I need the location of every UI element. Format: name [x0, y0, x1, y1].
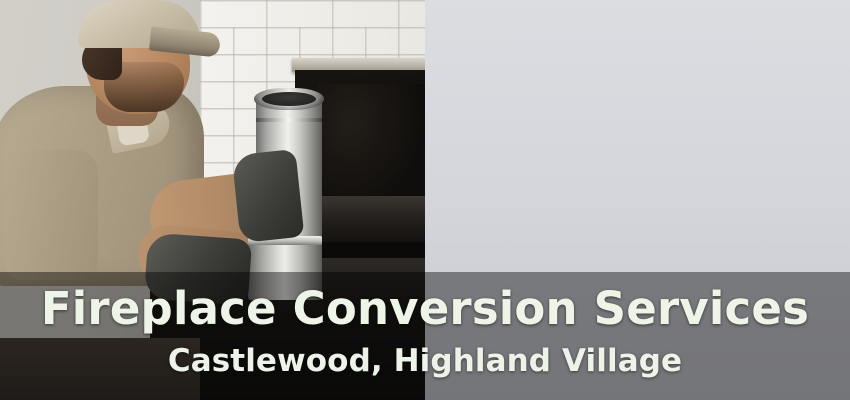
technician-left-sleeve: [6, 150, 98, 280]
page-title: Fireplace Conversion Services: [41, 286, 809, 333]
service-area-banner: Fireplace Conversion Services Castlewood…: [0, 0, 850, 400]
technician-left-glove-upper: [232, 149, 305, 243]
stove-pipe-bore: [262, 92, 316, 106]
caption-block: Fireplace Conversion Services Castlewood…: [0, 272, 850, 400]
service-location-subtitle: Castlewood, Highland Village: [168, 345, 682, 378]
firebox-interior-shadow: [318, 84, 425, 214]
stove-pipe-seam: [256, 118, 322, 122]
